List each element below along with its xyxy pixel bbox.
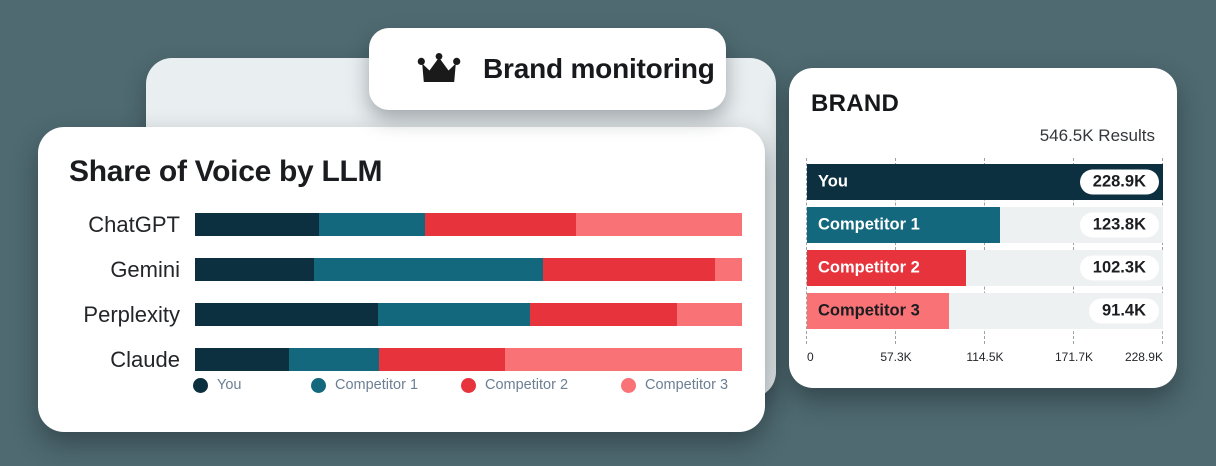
brand-row[interactable]: Competitor 1123.8K bbox=[807, 207, 1163, 243]
sov-segment-competitor-1 bbox=[378, 303, 530, 326]
legend-label: Competitor 1 bbox=[335, 377, 418, 393]
sov-stacked-bar bbox=[195, 213, 742, 236]
sov-segment-you bbox=[195, 348, 289, 371]
sov-segment-competitor-2 bbox=[379, 348, 505, 371]
brand-row-label: Competitor 1 bbox=[818, 216, 920, 235]
sov-segment-competitor-1 bbox=[314, 258, 544, 281]
legend-dot-icon bbox=[193, 378, 208, 393]
brand-row-value: 102.3K bbox=[1080, 256, 1159, 281]
share-of-voice-title: Share of Voice by LLM bbox=[69, 155, 382, 189]
brand-monitoring-badge[interactable]: Brand monitoring bbox=[369, 28, 726, 110]
brand-rows: You228.9KCompetitor 1123.8KCompetitor 21… bbox=[807, 164, 1163, 329]
share-of-voice-chart: ChatGPTGeminiPerplexityClaude bbox=[62, 213, 742, 371]
sov-segment-you bbox=[195, 213, 319, 236]
sov-segment-competitor-1 bbox=[289, 348, 379, 371]
sov-segment-you bbox=[195, 258, 314, 281]
brand-row-value: 228.9K bbox=[1080, 170, 1159, 195]
legend-label: You bbox=[217, 377, 241, 393]
legend-dot-icon bbox=[461, 378, 476, 393]
sov-segment-competitor-3 bbox=[505, 348, 742, 371]
sov-row-label: ChatGPT bbox=[62, 212, 195, 238]
x-tick-label: 114.5K bbox=[966, 350, 1003, 364]
share-of-voice-legend: YouCompetitor 1Competitor 2Competitor 3 bbox=[193, 377, 738, 393]
brand-results-count: 546.5K Results bbox=[1040, 126, 1155, 146]
legend-item[interactable]: Competitor 1 bbox=[311, 377, 461, 393]
sov-segment-competitor-1 bbox=[319, 213, 426, 236]
sov-segment-competitor-2 bbox=[543, 258, 715, 281]
brand-card: BRAND 546.5K Results You228.9KCompetitor… bbox=[789, 68, 1177, 388]
crown-icon bbox=[417, 53, 461, 85]
share-of-voice-card: Share of Voice by LLM ChatGPTGeminiPerpl… bbox=[38, 127, 765, 432]
legend-label: Competitor 3 bbox=[645, 377, 728, 393]
screenshot-stage: Brand monitoring Share of Voice by LLM C… bbox=[0, 0, 1216, 466]
legend-item[interactable]: You bbox=[193, 377, 311, 393]
brand-monitoring-label: Brand monitoring bbox=[483, 53, 715, 85]
legend-dot-icon bbox=[621, 378, 636, 393]
brand-chart: You228.9KCompetitor 1123.8KCompetitor 21… bbox=[807, 158, 1163, 344]
brand-row[interactable]: You228.9K bbox=[807, 164, 1163, 200]
sov-segment-competitor-3 bbox=[576, 213, 742, 236]
sov-row: Claude bbox=[62, 348, 742, 371]
sov-segment-competitor-2 bbox=[530, 303, 677, 326]
sov-stacked-bar bbox=[195, 348, 742, 371]
legend-item[interactable]: Competitor 3 bbox=[621, 377, 728, 393]
x-tick-label: 171.7K bbox=[1055, 350, 1093, 364]
legend-dot-icon bbox=[311, 378, 326, 393]
sov-stacked-bar bbox=[195, 258, 742, 281]
brand-title: BRAND bbox=[811, 90, 899, 118]
x-tick-label: 228.9K bbox=[1125, 350, 1163, 364]
sov-row: Gemini bbox=[62, 258, 742, 281]
sov-stacked-bar bbox=[195, 303, 742, 326]
brand-row-label: Competitor 3 bbox=[818, 302, 920, 321]
brand-row-value: 91.4K bbox=[1089, 299, 1159, 324]
brand-row-value: 123.8K bbox=[1080, 213, 1159, 238]
brand-row[interactable]: Competitor 2102.3K bbox=[807, 250, 1163, 286]
sov-row-label: Perplexity bbox=[62, 302, 195, 328]
sov-row: ChatGPT bbox=[62, 213, 742, 236]
sov-row-label: Gemini bbox=[62, 257, 195, 283]
brand-row[interactable]: Competitor 391.4K bbox=[807, 293, 1163, 329]
legend-item[interactable]: Competitor 2 bbox=[461, 377, 621, 393]
legend-label: Competitor 2 bbox=[485, 377, 568, 393]
sov-row: Perplexity bbox=[62, 303, 742, 326]
brand-x-axis: 057.3K114.5K171.7K228.9K bbox=[807, 350, 1163, 368]
sov-segment-competitor-2 bbox=[425, 213, 576, 236]
x-tick-label: 0 bbox=[807, 350, 814, 364]
x-tick-label: 57.3K bbox=[880, 350, 911, 364]
sov-segment-competitor-3 bbox=[677, 303, 742, 326]
sov-segment-you bbox=[195, 303, 378, 326]
sov-row-label: Claude bbox=[62, 347, 195, 373]
brand-row-label: Competitor 2 bbox=[818, 259, 920, 278]
sov-segment-competitor-3 bbox=[715, 258, 742, 281]
brand-row-label: You bbox=[818, 173, 848, 192]
